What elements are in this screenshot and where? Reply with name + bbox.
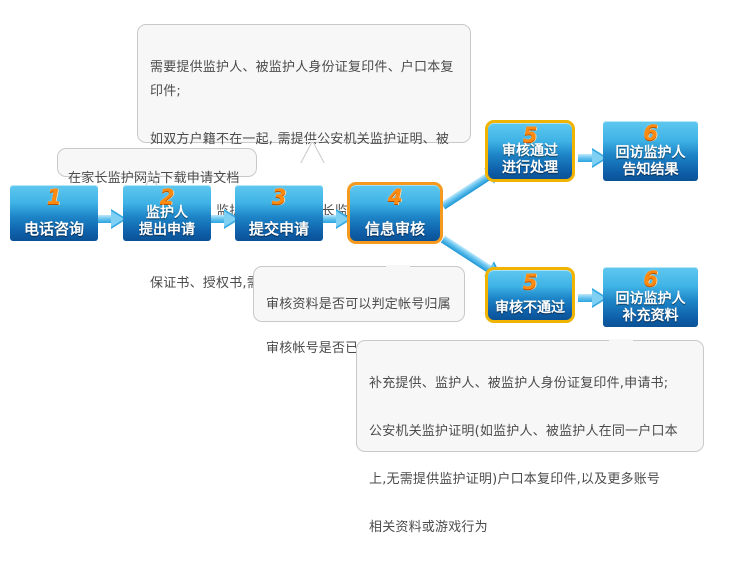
note-supplement-line-3: 上,无需提供监护证明)户口本复印件,以及更多账号 — [369, 468, 691, 492]
note-requirements: 需要提供监护人、被监护人身份证复印件、户口本复印件; 如双方户籍不在一起, 需提… — [137, 24, 471, 143]
node-step6-pass-label: 回访监护人 告知结果 — [603, 145, 698, 179]
note-supplement-line-2: 公安机关监护证明(如监护人、被监护人在同一户口本 — [369, 420, 691, 444]
node-step5-fail-number: 5 — [488, 271, 572, 293]
node-step5-pass-label: 审核通过 进行处理 — [488, 143, 572, 177]
node-step4-number: 4 — [350, 186, 440, 208]
node-step5-pass[interactable]: 5 审核通过 进行处理 — [485, 120, 575, 182]
note-supplement: 补充提供、监护人、被监护人身份证复印件,申请书; 公安机关监护证明(如监护人、被… — [356, 340, 704, 452]
node-step2[interactable]: 2 监护人 提出申请 — [123, 185, 211, 241]
note-supplement-line-4: 相关资料或游戏行为 — [369, 516, 691, 540]
note-review-line-1: 审核资料是否可以判定帐号归属 — [266, 294, 452, 316]
node-step4[interactable]: 4 信息审核 — [347, 182, 443, 244]
flowchart-canvas: 需要提供监护人、被监护人身份证复印件、户口本复印件; 如双方户籍不在一起, 需提… — [0, 0, 744, 470]
note-download: 在家长监护网站下载申请文档 — [57, 148, 257, 177]
node-step6-fail[interactable]: 6 回访监护人 补充资料 — [603, 267, 698, 327]
node-step1-number: 1 — [10, 186, 98, 208]
node-step2-label: 监护人 提出申请 — [123, 205, 211, 239]
node-step1[interactable]: 1 电话咨询 — [10, 185, 98, 241]
note-review-tail — [385, 245, 411, 267]
node-step5-fail-label: 审核不通过 — [488, 299, 572, 317]
note-requirements-line-1: 需要提供监护人、被监护人身份证复印件、户口本复印件; — [150, 56, 458, 104]
note-supplement-line-1: 补充提供、监护人、被监护人身份证复印件,申请书; — [369, 372, 691, 396]
node-step6-pass-number: 6 — [603, 122, 698, 144]
node-step1-label: 电话咨询 — [10, 220, 98, 238]
node-step3-label: 提交申请 — [235, 220, 323, 238]
node-step5-fail[interactable]: 5 审核不通过 — [485, 267, 575, 323]
node-step4-label: 信息审核 — [350, 220, 440, 238]
node-step6-pass[interactable]: 6 回访监护人 告知结果 — [603, 121, 698, 181]
node-step6-fail-number: 6 — [603, 268, 698, 290]
note-requirements-tail — [299, 141, 325, 163]
node-step6-fail-label: 回访监护人 补充资料 — [603, 291, 698, 325]
node-step3[interactable]: 3 提交申请 — [235, 185, 323, 241]
node-step3-number: 3 — [235, 186, 323, 208]
note-review: 审核资料是否可以判定帐号归属 审核帐号是否已经纳入防沉迷 — [253, 266, 465, 322]
